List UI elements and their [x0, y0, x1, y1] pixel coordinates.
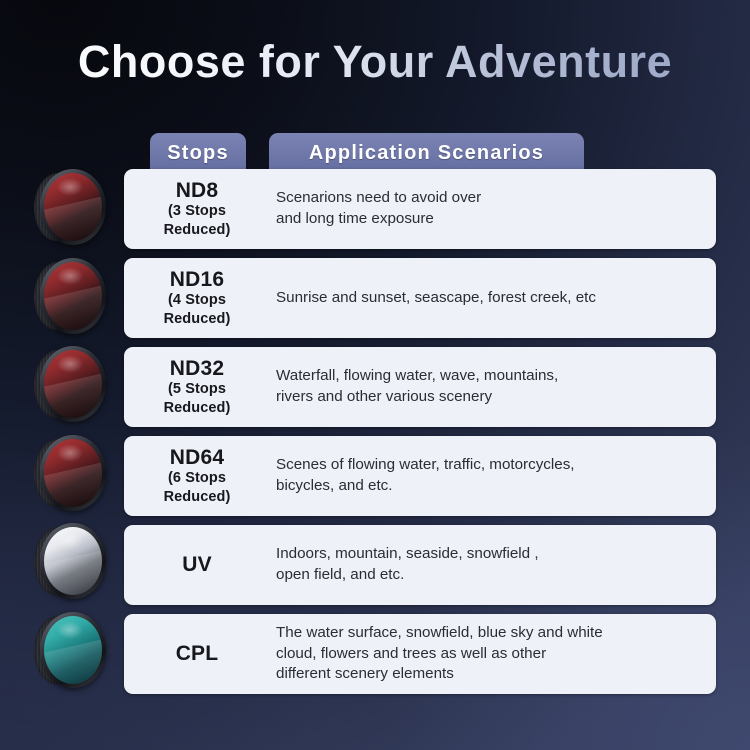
- table-row: ND16(4 StopsReduced)Sunrise and sunset, …: [124, 258, 716, 338]
- product-info-graphic: Choose for Your Adventure: [0, 0, 750, 750]
- row-scenario-line: rivers and other various scenery: [276, 387, 704, 408]
- row-filter-stops-line1: (3 Stops: [130, 203, 264, 220]
- row-filter-name-cell: ND64(6 StopsReduced): [124, 446, 270, 506]
- row-scenario-line: open field, and etc.: [276, 565, 704, 586]
- row-filter-name: ND8: [130, 179, 264, 203]
- row-filter-name: ND32: [130, 357, 264, 381]
- row-scenario-cell: Scenes of flowing water, traffic, motorc…: [270, 455, 716, 497]
- row-scenario-cell: Scenarions need to avoid overand long ti…: [270, 188, 716, 230]
- row-scenario-line: The water surface, snowfield, blue sky a…: [276, 623, 704, 644]
- page-title: Choose for Your Adventure: [0, 36, 750, 88]
- table-header-row: Stops Application Scenarios: [124, 133, 716, 173]
- row-scenario-line: and long time exposure: [276, 209, 704, 230]
- row-scenario-line: Waterfall, flowing water, wave, mountain…: [276, 366, 704, 387]
- row-filter-stops-line2: Reduced): [130, 400, 264, 417]
- table-row: ND32(5 StopsReduced)Waterfall, flowing w…: [124, 347, 716, 427]
- row-scenario-cell: Indoors, mountain, seaside, snowfield ,o…: [270, 544, 716, 586]
- row-filter-name-cell: ND16(4 StopsReduced): [124, 268, 270, 328]
- row-filter-stops-line1: (4 Stops: [130, 292, 264, 309]
- table-row: UVIndoors, mountain, seaside, snowfield …: [124, 525, 716, 605]
- row-filter-name: ND64: [130, 446, 264, 470]
- row-filter-stops-line2: Reduced): [130, 489, 264, 506]
- row-filter-stops-line1: (6 Stops: [130, 470, 264, 487]
- table-row: CPLThe water surface, snowfield, blue sk…: [124, 614, 716, 694]
- row-scenario-line: different scenery elements: [276, 664, 704, 685]
- table-row: ND8(3 StopsReduced)Scenarions need to av…: [124, 169, 716, 249]
- row-scenario-line: bicycles, and etc.: [276, 476, 704, 497]
- table-body: ND8(3 StopsReduced)Scenarions need to av…: [124, 169, 716, 703]
- table-header-stops: Stops: [150, 133, 246, 173]
- row-scenario-cell: The water surface, snowfield, blue sky a…: [270, 623, 716, 686]
- row-scenario-line: cloud, flowers and trees as well as othe…: [276, 644, 704, 665]
- row-filter-name-cell: CPL: [124, 642, 270, 666]
- row-filter-stops-line2: Reduced): [130, 311, 264, 328]
- row-scenario-line: Scenes of flowing water, traffic, motorc…: [276, 455, 704, 476]
- row-filter-name-cell: UV: [124, 553, 270, 577]
- table-row: ND64(6 StopsReduced)Scenes of flowing wa…: [124, 436, 716, 516]
- row-filter-stops-line1: (5 Stops: [130, 381, 264, 398]
- row-filter-name-cell: ND32(5 StopsReduced): [124, 357, 270, 417]
- row-filter-stops-line2: Reduced): [130, 222, 264, 239]
- table-header-application-scenarios: Application Scenarios: [269, 133, 584, 173]
- row-scenario-cell: Sunrise and sunset, seascape, forest cre…: [270, 288, 716, 309]
- row-scenario-line: Scenarions need to avoid over: [276, 188, 704, 209]
- row-scenario-cell: Waterfall, flowing water, wave, mountain…: [270, 366, 716, 408]
- row-filter-name: CPL: [130, 642, 264, 666]
- row-filter-name: UV: [130, 553, 264, 577]
- comparison-table: Stops Application Scenarios ND8(3 StopsR…: [0, 0, 750, 750]
- row-filter-name: ND16: [130, 268, 264, 292]
- row-scenario-line: Indoors, mountain, seaside, snowfield ,: [276, 544, 704, 565]
- row-scenario-line: Sunrise and sunset, seascape, forest cre…: [276, 288, 704, 309]
- row-filter-name-cell: ND8(3 StopsReduced): [124, 179, 270, 239]
